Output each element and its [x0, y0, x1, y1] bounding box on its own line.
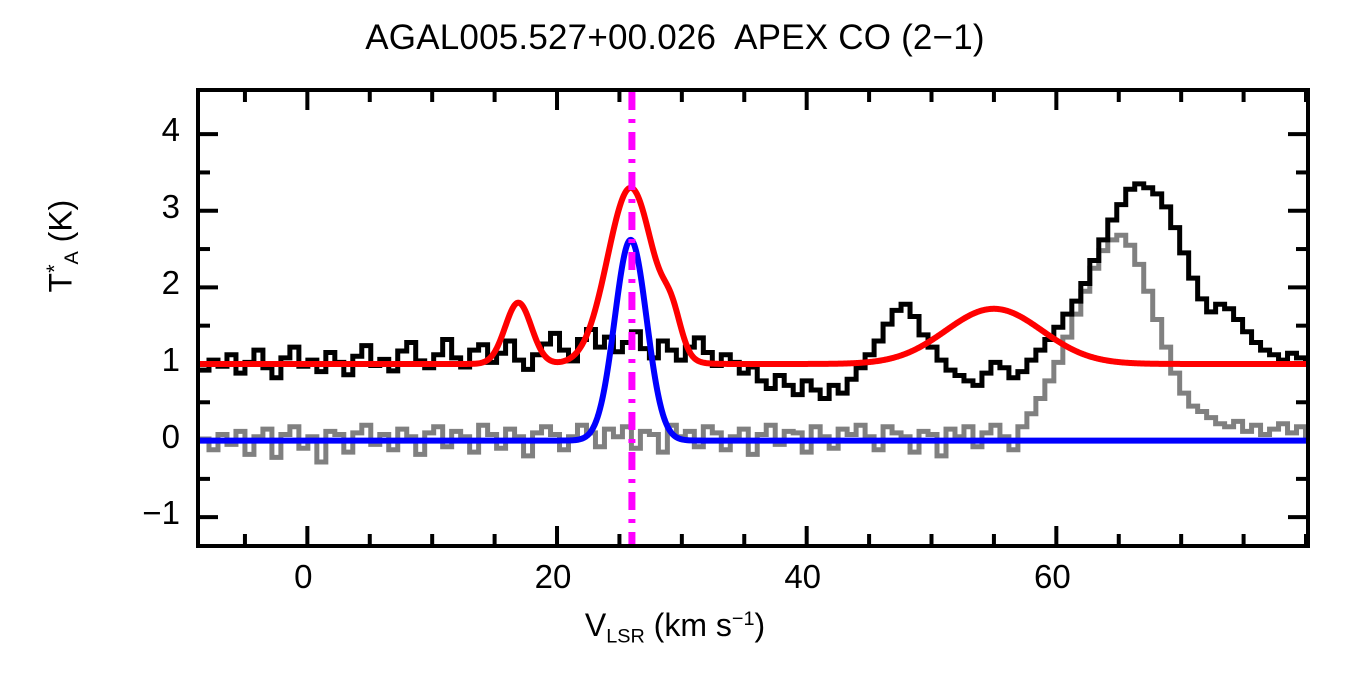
residual-spectrum [200, 235, 1306, 462]
y-axis-label-unit: (K) [43, 200, 79, 252]
x-axis-label-unit-close: ) [754, 607, 765, 643]
y-tick-label: −1 [114, 494, 180, 532]
chart-root: AGAL005.527+00.026 APEX CO (2−1) VLSR (k… [0, 0, 1350, 675]
x-axis-label-unit-exponent: −1 [732, 608, 755, 630]
x-tick-label: 40 [784, 558, 821, 596]
y-tick-label: 2 [114, 264, 180, 302]
x-axis-label-unit-open: (km s [645, 607, 732, 643]
y-axis-label-sub: A [61, 251, 83, 264]
y-axis-label: T*A (K) [42, 146, 84, 346]
x-axis-label-sub: LSR [606, 625, 645, 647]
y-tick-label: 1 [114, 341, 180, 379]
chart-title: AGAL005.527+00.026 APEX CO (2−1) [0, 18, 1350, 58]
x-axis-label: VLSR (km s−1) [0, 607, 1350, 648]
x-tick-label: 20 [535, 558, 572, 596]
spectrum-plot-svg [200, 92, 1306, 544]
y-tick-label: 4 [114, 111, 180, 149]
x-tick-label: 60 [1034, 558, 1071, 596]
y-axis-label-star: * [42, 264, 67, 272]
component-fit [200, 240, 1306, 441]
x-axis-label-main: V [585, 607, 606, 643]
plot-area [196, 88, 1310, 548]
total-fit [200, 188, 1306, 364]
y-tick-label: 0 [114, 418, 180, 456]
y-axis-label-main: T [43, 273, 79, 293]
y-tick-label: 3 [114, 188, 180, 226]
x-tick-label: 0 [294, 558, 312, 596]
